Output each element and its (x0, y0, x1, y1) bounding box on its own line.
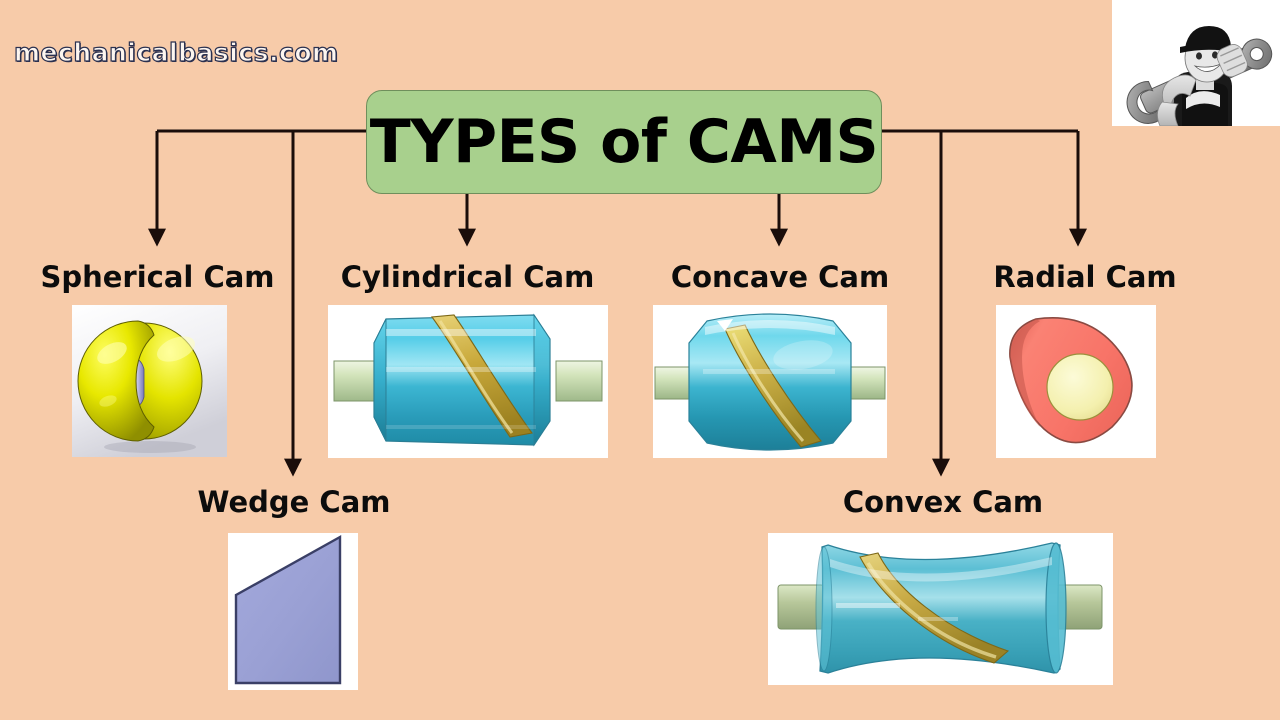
mechanic-logo-icon (1112, 0, 1280, 126)
concave-cam-image (653, 305, 887, 458)
radial-cam-image (996, 305, 1156, 458)
convex-cam-image (768, 533, 1113, 685)
mechanic-with-wrench-logo (1112, 0, 1280, 126)
page-title: TYPES of CAMS (370, 107, 879, 177)
cam-label-concave: Concave Cam (640, 260, 920, 294)
spherical-cam-image (72, 305, 227, 457)
wedge-cam-image (228, 533, 358, 690)
cam-label-radial: Radial Cam (950, 260, 1220, 294)
slide-canvas: mechanicalbasics.com (0, 0, 1280, 720)
cylindrical-cam-image (328, 305, 608, 458)
cam-label-spherical: Spherical Cam (10, 260, 305, 294)
cam-label-convex: Convex Cam (808, 485, 1078, 519)
cam-label-wedge: Wedge Cam (165, 485, 423, 519)
cam-label-cylindrical: Cylindrical Cam (320, 260, 615, 294)
diagram-title-box: TYPES of CAMS (366, 90, 882, 194)
site-watermark: mechanicalbasics.com (14, 38, 339, 67)
